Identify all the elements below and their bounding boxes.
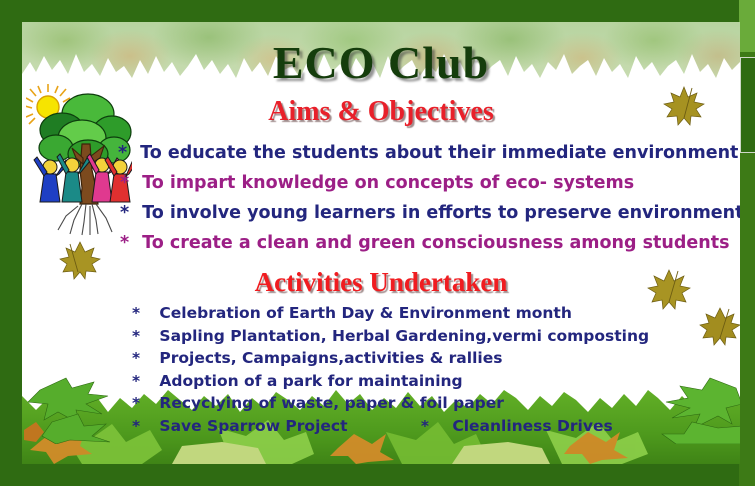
aims-list-item: * To involve young learners in efforts t…: [118, 198, 734, 228]
bullet-star-icon: *: [132, 302, 154, 325]
aims-list: * To educate the students about their im…: [118, 138, 734, 258]
bullet-star-icon: *: [132, 392, 154, 415]
poster-title: ECO Club: [22, 36, 740, 89]
tree-roots-icon: [58, 204, 112, 235]
aims-list-item: * To impart knowledge on concepts of eco…: [118, 168, 734, 198]
bullet-star-icon: *: [132, 370, 154, 393]
activities-list-item: * Recyclying of waste, paper & foil pape…: [132, 392, 732, 415]
bullet-star-icon: *: [132, 347, 154, 370]
activities-item-text: Celebration of Earth Day & Environment m…: [159, 304, 571, 322]
aims-item-text: To involve young learners in efforts to …: [142, 203, 740, 223]
activities-item-text: Sapling Plantation, Herbal Gardening,ver…: [159, 327, 649, 345]
aims-list-item: * To educate the students about their im…: [118, 138, 734, 168]
activities-list-item: * Save Sparrow Project * Cleanliness Dri…: [132, 415, 732, 438]
aims-list-item: * To create a clean and green consciousn…: [118, 228, 734, 258]
activities-item-text: Adoption of a park for maintaining: [159, 372, 462, 390]
aims-item-text: To create a clean and green consciousnes…: [142, 233, 729, 253]
foliage-sprig-icon: [22, 344, 142, 444]
activities-list-item: * Sapling Plantation, Herbal Gardening,v…: [132, 325, 732, 348]
bullet-star-icon: *: [132, 415, 154, 438]
adjacent-slide-top-band: [739, 0, 755, 52]
poster-card: ECO Club Aims & Objectives Activities Un…: [22, 22, 740, 464]
aims-item-text: To educate the students about their imme…: [140, 143, 738, 163]
activities-item-text-secondary: Cleanliness Drives: [452, 417, 612, 435]
activities-item-text: Projects, Campaigns,activities & rallies: [159, 349, 502, 367]
adjacent-slide-inner-panel: [740, 57, 755, 153]
bullet-star-icon: *: [120, 198, 136, 228]
bullet-star-icon: *: [118, 138, 134, 168]
bullet-star-icon: *: [120, 228, 136, 258]
activities-item-text: Recyclying of waste, paper & foil paper: [159, 394, 504, 412]
bullet-star-icon: *: [132, 325, 154, 348]
aims-item-text: To impart knowledge on concepts of eco- …: [142, 173, 634, 193]
activities-list-item: * Projects, Campaigns,activities & ralli…: [132, 347, 732, 370]
bullet-star-icon: *: [421, 415, 447, 438]
adjacent-slide-edge: [739, 0, 755, 486]
activities-list-item: * Adoption of a park for maintaining: [132, 370, 732, 393]
activities-heading: Activities Undertaken: [22, 267, 740, 298]
activities-item-text: Save Sparrow Project: [159, 417, 347, 435]
activities-list: * Celebration of Earth Day & Environment…: [132, 302, 732, 437]
bullet-star-icon: *: [120, 168, 136, 198]
eco-club-poster: ECO Club Aims & Objectives Activities Un…: [0, 0, 755, 486]
aims-heading: Aims & Objectives: [22, 96, 740, 128]
activities-list-item: * Celebration of Earth Day & Environment…: [132, 302, 732, 325]
